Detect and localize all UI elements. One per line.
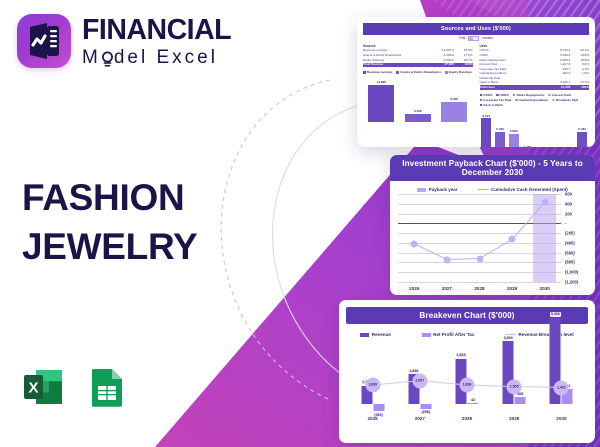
x-axis-tick: 2029: [491, 416, 538, 421]
bar-column: 3,408: [400, 76, 437, 122]
bar-column: -: [562, 109, 576, 147]
uses-column: Uses COGS8,723.929.1%OPEX5,468.818.8%Deb…: [480, 44, 590, 147]
legend-item: Debts Repayments: [513, 93, 545, 97]
sources-table: Revenue receipts14,897.653.3%Grants & De…: [363, 49, 473, 67]
brand-subtitle-post: del Excel: [114, 47, 218, 68]
poster-canvas: FINANCIAL Mdel Excel FASHION JEWELRY X: [0, 0, 600, 447]
file-format-icons: X: [20, 364, 130, 410]
bar: [495, 132, 505, 147]
table-total-row: Total Uses27,305100%: [480, 85, 590, 90]
legend-breakeven-level: Revenue Breakeven level: [505, 332, 574, 337]
x-axis-tick: 2028: [443, 416, 490, 421]
legend-item: Grants & Debts Drawdowns: [396, 70, 441, 74]
bar: [509, 134, 519, 147]
legend-cumulative-cash-label: Cumulative Cash Generated (Spent): [491, 187, 568, 192]
bar-value-label: (462): [373, 412, 383, 417]
sources-and-uses-title: Sources and Uses ($'000): [363, 23, 589, 35]
breakeven-level-line: [349, 339, 585, 411]
bar-column: 14,898: [363, 76, 400, 122]
bar-value-label: 5,481: [578, 127, 586, 131]
legend-npat-label: Net Profit After Tax: [433, 332, 474, 337]
bar: [577, 132, 587, 147]
sources-bar-chart: 14,8983,4088,000: [363, 76, 473, 122]
y-axis-tick: (200): [565, 231, 575, 236]
legend-label: Debts Repayments: [517, 93, 545, 97]
legend-label: Equity Raisings: [449, 70, 472, 74]
legend-npat: Net Profit After Tax: [422, 332, 475, 337]
legend-swatch-icon: [480, 99, 483, 102]
legend-payback-year: Payback year: [417, 187, 457, 192]
legend-swatch-npat-icon: [422, 333, 431, 337]
bar-column: 1,268: [521, 109, 535, 147]
breakeven-level-bubble: 1,639: [460, 377, 475, 392]
breakeven-level-bubble: 1,422: [554, 380, 569, 395]
data-point: [509, 236, 516, 243]
legend-label: Interest Paid: [552, 93, 571, 97]
table-total-row: Total Sources27,305100%: [363, 63, 473, 68]
microsoft-excel-icon[interactable]: X: [20, 364, 66, 410]
y-axis-tick: -: [565, 221, 566, 226]
legend-swatch-bar-icon: [417, 188, 426, 192]
legend-item: OPEX: [496, 93, 508, 97]
legend-breakeven-label: Revenue Breakeven level: [519, 332, 574, 337]
x-axis-tick: 2030: [528, 286, 561, 291]
bar-column: 401: [534, 109, 548, 147]
legend-item: Revenue receipts: [363, 70, 392, 74]
brand-subtitle-pre: M: [82, 47, 101, 68]
investment-payback-card[interactable]: Investment Payback Chart ($'000) - 5 Yea…: [390, 155, 595, 295]
gridline: [398, 282, 561, 283]
brand-title: FINANCIAL: [82, 16, 231, 45]
bar-column: 5,481: [575, 109, 589, 147]
bar-value-label: 14,898: [377, 80, 386, 84]
legend-swatch-line-icon: [478, 189, 489, 190]
legend-payback-year-label: Payback year: [429, 187, 458, 192]
total-value: 27,305: [432, 63, 454, 68]
legend-label: OPEX: [500, 93, 509, 97]
data-point: [443, 256, 450, 263]
payback-x-axis-labels: 20262027202820292030: [398, 286, 561, 291]
bar-value-label: 3,408: [414, 109, 422, 113]
bar: [405, 114, 431, 123]
payback-y-axis-labels: 600400200-(200)(400)(600)(800)(1,000)(1,…: [561, 194, 591, 282]
legend-cumulative-cash: Cumulative Cash Generated (Spent): [478, 187, 568, 192]
y-axis-tick: (400): [565, 240, 575, 245]
x-axis-tick: 2027: [431, 286, 464, 291]
months-suffix: months: [482, 36, 492, 40]
breakeven-card[interactable]: Breakeven Chart ($'000) Revenue Net Prof…: [339, 300, 595, 443]
legend-item: Capital Expenditure: [515, 98, 548, 102]
headline-line-2: JEWELRY: [22, 223, 197, 272]
legend-swatch-icon: [552, 99, 555, 102]
legend-swatch-icon: [548, 94, 551, 97]
payback-legend: Payback year Cumulative Cash Generated (…: [394, 187, 591, 192]
y-axis-tick: (1,000): [565, 270, 578, 275]
legend-item: Cash in Bank: [480, 103, 503, 107]
legend-swatch-icon: [480, 104, 483, 107]
bar-column: 8,000: [436, 76, 473, 122]
bar-column: 5,469: [493, 109, 507, 147]
bar-value-label: 8,000: [450, 97, 458, 101]
financial-model-excel-logo-icon: [17, 14, 71, 68]
y-axis-tick: 600: [565, 192, 572, 197]
legend-label: Grants & Debts Drawdowns: [400, 70, 441, 74]
bar-column: 282: [548, 109, 562, 147]
bar: [368, 85, 394, 122]
total-value: 27,305: [545, 85, 570, 90]
months-prefix: First: [459, 36, 465, 40]
data-point: [411, 240, 418, 247]
legend-revenue-label: Revenue: [372, 332, 391, 337]
legend-swatch-icon: [396, 71, 399, 74]
breakeven-plot-area: 1,140(462)1,848(298)2,818423,9044085,366…: [349, 339, 585, 411]
y-axis-tick: (600): [565, 250, 575, 255]
bar-value-label: 5,469: [496, 127, 504, 131]
legend-swatch-icon: [515, 99, 518, 102]
total-pct: 100%: [454, 63, 473, 68]
svg-text:X: X: [28, 380, 38, 397]
legend-label: Corporate Tax Paid: [483, 98, 511, 102]
legend-swatch-icon: [513, 94, 516, 97]
payback-data-points: [398, 194, 561, 282]
sources-legend: Revenue receiptsGrants & Debts Drawdowns…: [363, 70, 473, 74]
uses-bar-chart: 8,7245,4695,0801,268401282-5,481: [480, 109, 590, 147]
x-axis-tick: 2028: [463, 286, 496, 291]
legend-label: Cash in Bank: [483, 103, 503, 107]
bar: [481, 118, 491, 147]
legend-swatch-icon: [363, 71, 366, 74]
data-point: [541, 199, 548, 206]
x-axis-tick: 2029: [496, 286, 529, 291]
legend-item: Interest Paid: [548, 93, 570, 97]
legend-label: COGS: [483, 93, 492, 97]
legend-item: Equity Raisings: [445, 70, 472, 74]
sources-header: Sources: [363, 44, 473, 48]
bar-value-label: 5,366: [550, 312, 561, 317]
page-title: FASHION JEWELRY: [22, 174, 197, 272]
uses-table: COGS8,723.929.1%OPEX5,468.818.8%Debts Re…: [480, 49, 590, 90]
legend-item: COGS: [480, 93, 493, 97]
y-axis-tick: 400: [565, 201, 572, 206]
sources-column: Sources Revenue receipts14,897.653.3%Gra…: [363, 44, 473, 147]
breakeven-level-bubble: 2,007: [412, 373, 427, 388]
investment-payback-title: Investment Payback Chart ($'000) - 5 Yea…: [390, 155, 595, 181]
bar-value-label: 8,724: [482, 114, 490, 118]
x-axis-tick: 2026: [398, 286, 431, 291]
months-input[interactable]: 60: [468, 36, 479, 41]
legend-item: Corporate Tax Paid: [480, 98, 512, 102]
legend-label: Capital Expenditure: [519, 98, 548, 102]
payback-plot-area: 600400200-(200)(400)(600)(800)(1,000)(1,…: [398, 194, 561, 282]
legend-revenue: Revenue: [360, 332, 391, 337]
legend-swatch-icon: [480, 94, 483, 97]
months-control[interactable]: First 60 months: [363, 36, 589, 41]
brand-logo: FINANCIAL Mdel Excel: [17, 14, 231, 68]
total-label: Total Sources: [363, 63, 432, 68]
legend-swatch-icon: [445, 71, 448, 74]
uses-header: Uses: [480, 44, 590, 48]
legend-label: Dividends Paid: [556, 98, 578, 102]
total-pct: 100%: [570, 85, 589, 90]
data-point: [476, 255, 483, 262]
legend-label: Revenue receipts: [367, 70, 393, 74]
bar-column: 8,724: [480, 109, 494, 147]
headline-line-1: FASHION: [22, 174, 197, 223]
total-label: Total Uses: [480, 85, 546, 90]
y-axis-tick: (1,200): [565, 280, 578, 285]
bar: [441, 102, 467, 122]
y-axis-tick: (800): [565, 260, 575, 265]
uses-legend: COGSOPEXDebts RepaymentsInterest PaidCor…: [480, 93, 590, 107]
breakeven-level-bubble: 1,639: [365, 377, 380, 392]
y-axis-tick: 200: [565, 211, 572, 216]
bar-column: 5,080: [507, 109, 521, 147]
legend-swatch-icon: [496, 94, 499, 97]
bar-value-label: 1,268: [524, 145, 532, 147]
legend-swatch-revenue-icon: [360, 333, 369, 337]
x-axis-tick: 2030: [538, 416, 585, 421]
breakeven-level-bubble: 1,505: [507, 379, 522, 394]
legend-item: Dividends Paid: [552, 98, 578, 102]
google-sheets-icon[interactable]: [84, 364, 130, 410]
sources-and-uses-card[interactable]: Sources and Uses ($'000) First 60 months…: [357, 17, 595, 147]
brand-subtitle: Mdel Excel: [82, 48, 218, 67]
x-axis-tick: 2027: [396, 416, 443, 421]
bar-value-label: 5,080: [510, 129, 518, 133]
breakeven-x-axis-labels: 20262027202820292030: [349, 416, 585, 421]
